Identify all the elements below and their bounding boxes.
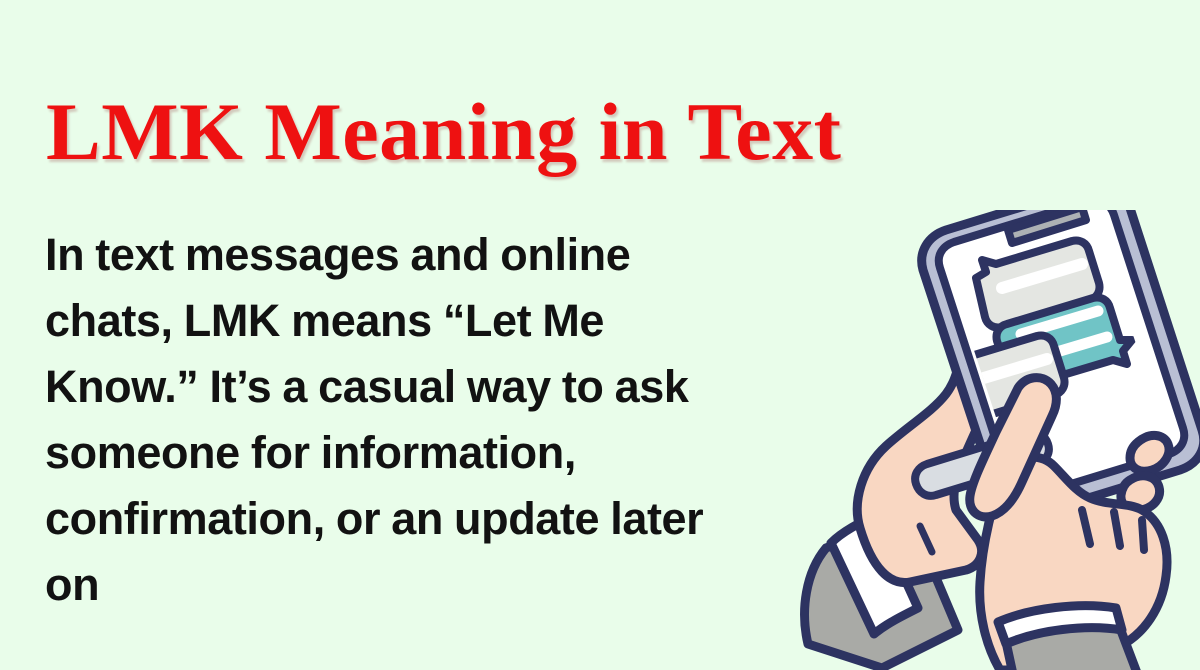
- poster-canvas: LMK Meaning in Text In text messages and…: [0, 0, 1200, 670]
- right-arm: [998, 606, 1142, 670]
- page-title: LMK Meaning in Text: [46, 86, 841, 178]
- body-paragraph: In text messages and online chats, LMK m…: [45, 222, 745, 618]
- hands-holding-smartphone-illustration: [790, 210, 1200, 670]
- fingertip-1: [1130, 435, 1169, 471]
- knuckle-line-3: [1142, 520, 1144, 550]
